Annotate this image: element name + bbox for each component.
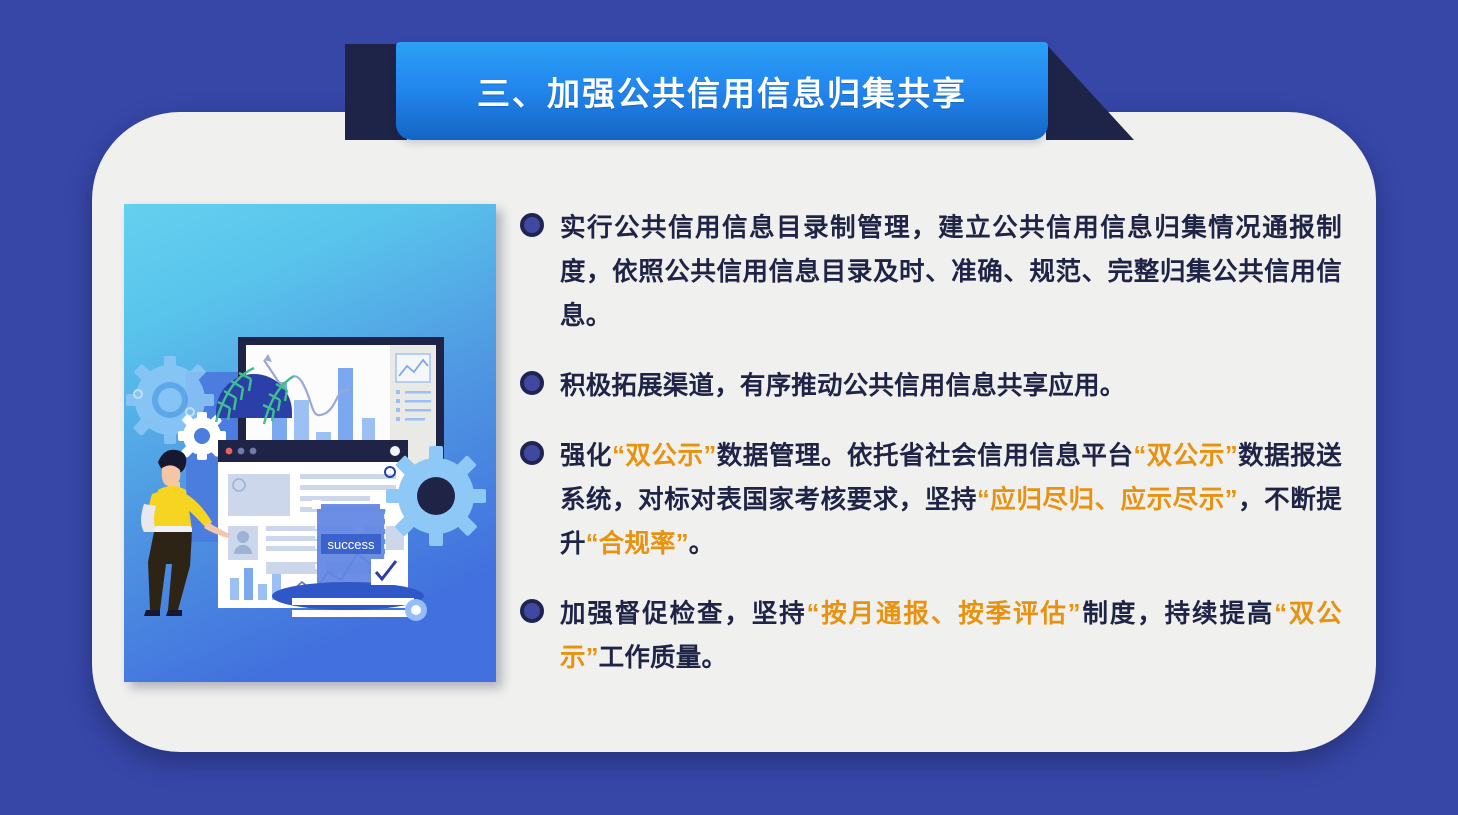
- bullet-list: 实行公共信用信息目录制管理，建立公共信用信息归集情况通报制度，依照公共信用信息目…: [520, 206, 1342, 680]
- highlighted-phrase: “双公示”: [612, 442, 716, 470]
- highlighted-phrase: “合规率”: [586, 530, 689, 558]
- page-title: 三、加强公共信用信息归集共享: [477, 67, 967, 115]
- bullet-dot-icon: [520, 213, 544, 237]
- bullet-3-text: 强化“双公示”数据管理。依托省社会信用信息平台“双公示”数据报送系统，对标对表国…: [560, 434, 1342, 566]
- body-text: 。: [689, 530, 715, 558]
- slide-root: 三、加强公共信用信息归集共享: [0, 0, 1458, 815]
- bullet-4-text: 加强督促检查，坚持“按月通报、按季评估”制度，持续提高“双公示”工作质量。: [560, 592, 1342, 680]
- bullet-dot-icon: [520, 371, 544, 395]
- gear-large-right: [386, 446, 486, 546]
- section-title-banner: 三、加强公共信用信息归集共享: [396, 42, 1048, 140]
- bullet-dot-icon: [520, 599, 544, 623]
- body-text: 加强督促检查，坚持: [560, 600, 807, 628]
- body-text: 强化: [560, 442, 612, 470]
- bullet-2-text: 积极拓展渠道，有序推动公共信用信息共享应用。: [560, 364, 1342, 408]
- list-item: 积极拓展渠道，有序推动公共信用信息共享应用。: [520, 364, 1342, 408]
- checkbox-icon: [371, 559, 397, 585]
- body-text: 制度，持续提高: [1081, 600, 1274, 628]
- body-text: 数据管理。依托省社会信用信息平台: [716, 442, 1133, 470]
- highlighted-phrase: “按月通报、按季评估”: [807, 600, 1081, 628]
- success-label: success: [328, 537, 375, 552]
- highlighted-phrase: “应归尽归、应示尽示”: [977, 486, 1238, 514]
- banner-wing-right: [1046, 44, 1134, 140]
- banner-wing-right-triangle: [1046, 44, 1134, 140]
- illustration-image: success: [124, 204, 496, 682]
- illustration-svg: success: [124, 204, 496, 682]
- bullet-1-text: 实行公共信用信息目录制管理，建立公共信用信息归集情况通报制度，依照公共信用信息目…: [560, 206, 1342, 338]
- bullet-dot-icon: [520, 441, 544, 465]
- list-item: 加强督促检查，坚持“按月通报、按季评估”制度，持续提高“双公示”工作质量。: [520, 592, 1342, 680]
- body-text: 实行公共信用信息目录制管理，建立公共信用信息归集情况通报制度，依照公共信用信息目…: [560, 214, 1342, 330]
- body-text: 积极拓展渠道，有序推动公共信用信息共享应用。: [560, 372, 1125, 400]
- list-item: 实行公共信用信息目录制管理，建立公共信用信息归集情况通报制度，依照公共信用信息目…: [520, 206, 1342, 338]
- list-item: 强化“双公示”数据管理。依托省社会信用信息平台“双公示”数据报送系统，对标对表国…: [520, 434, 1342, 566]
- highlighted-phrase: “双公示”: [1133, 442, 1237, 470]
- body-text: 工作质量。: [599, 644, 728, 672]
